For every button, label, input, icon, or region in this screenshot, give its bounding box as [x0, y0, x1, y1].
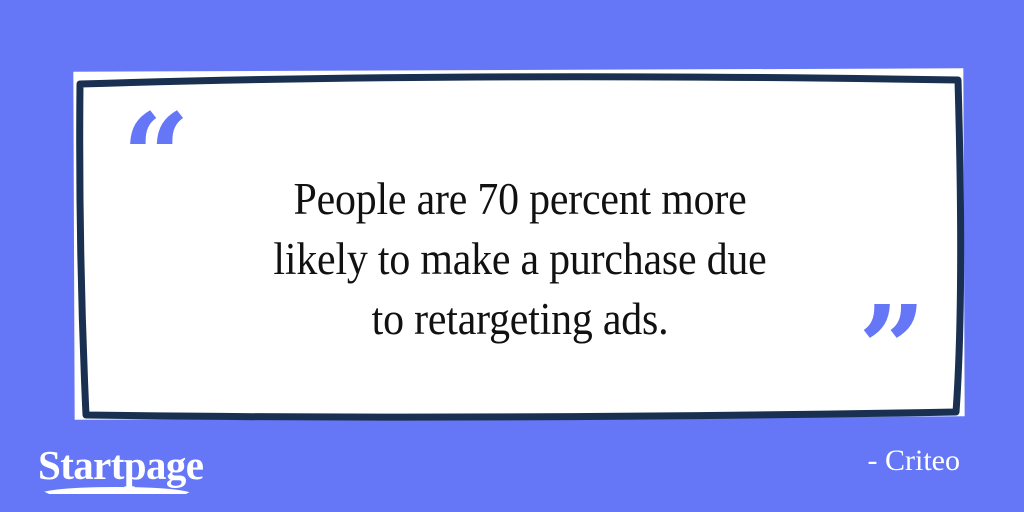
startpage-logo: Startpage	[38, 445, 203, 486]
quote-card: “ People are 70 percent more likely to m…	[70, 66, 970, 424]
quote-text: People are 70 percent more likely to mak…	[195, 170, 846, 350]
quote-open-icon: “	[122, 98, 190, 216]
startpage-logo-underline-swash	[40, 487, 192, 494]
quote-close-icon: ”	[858, 290, 926, 408]
quote-attribution: - Criteo	[868, 446, 960, 476]
